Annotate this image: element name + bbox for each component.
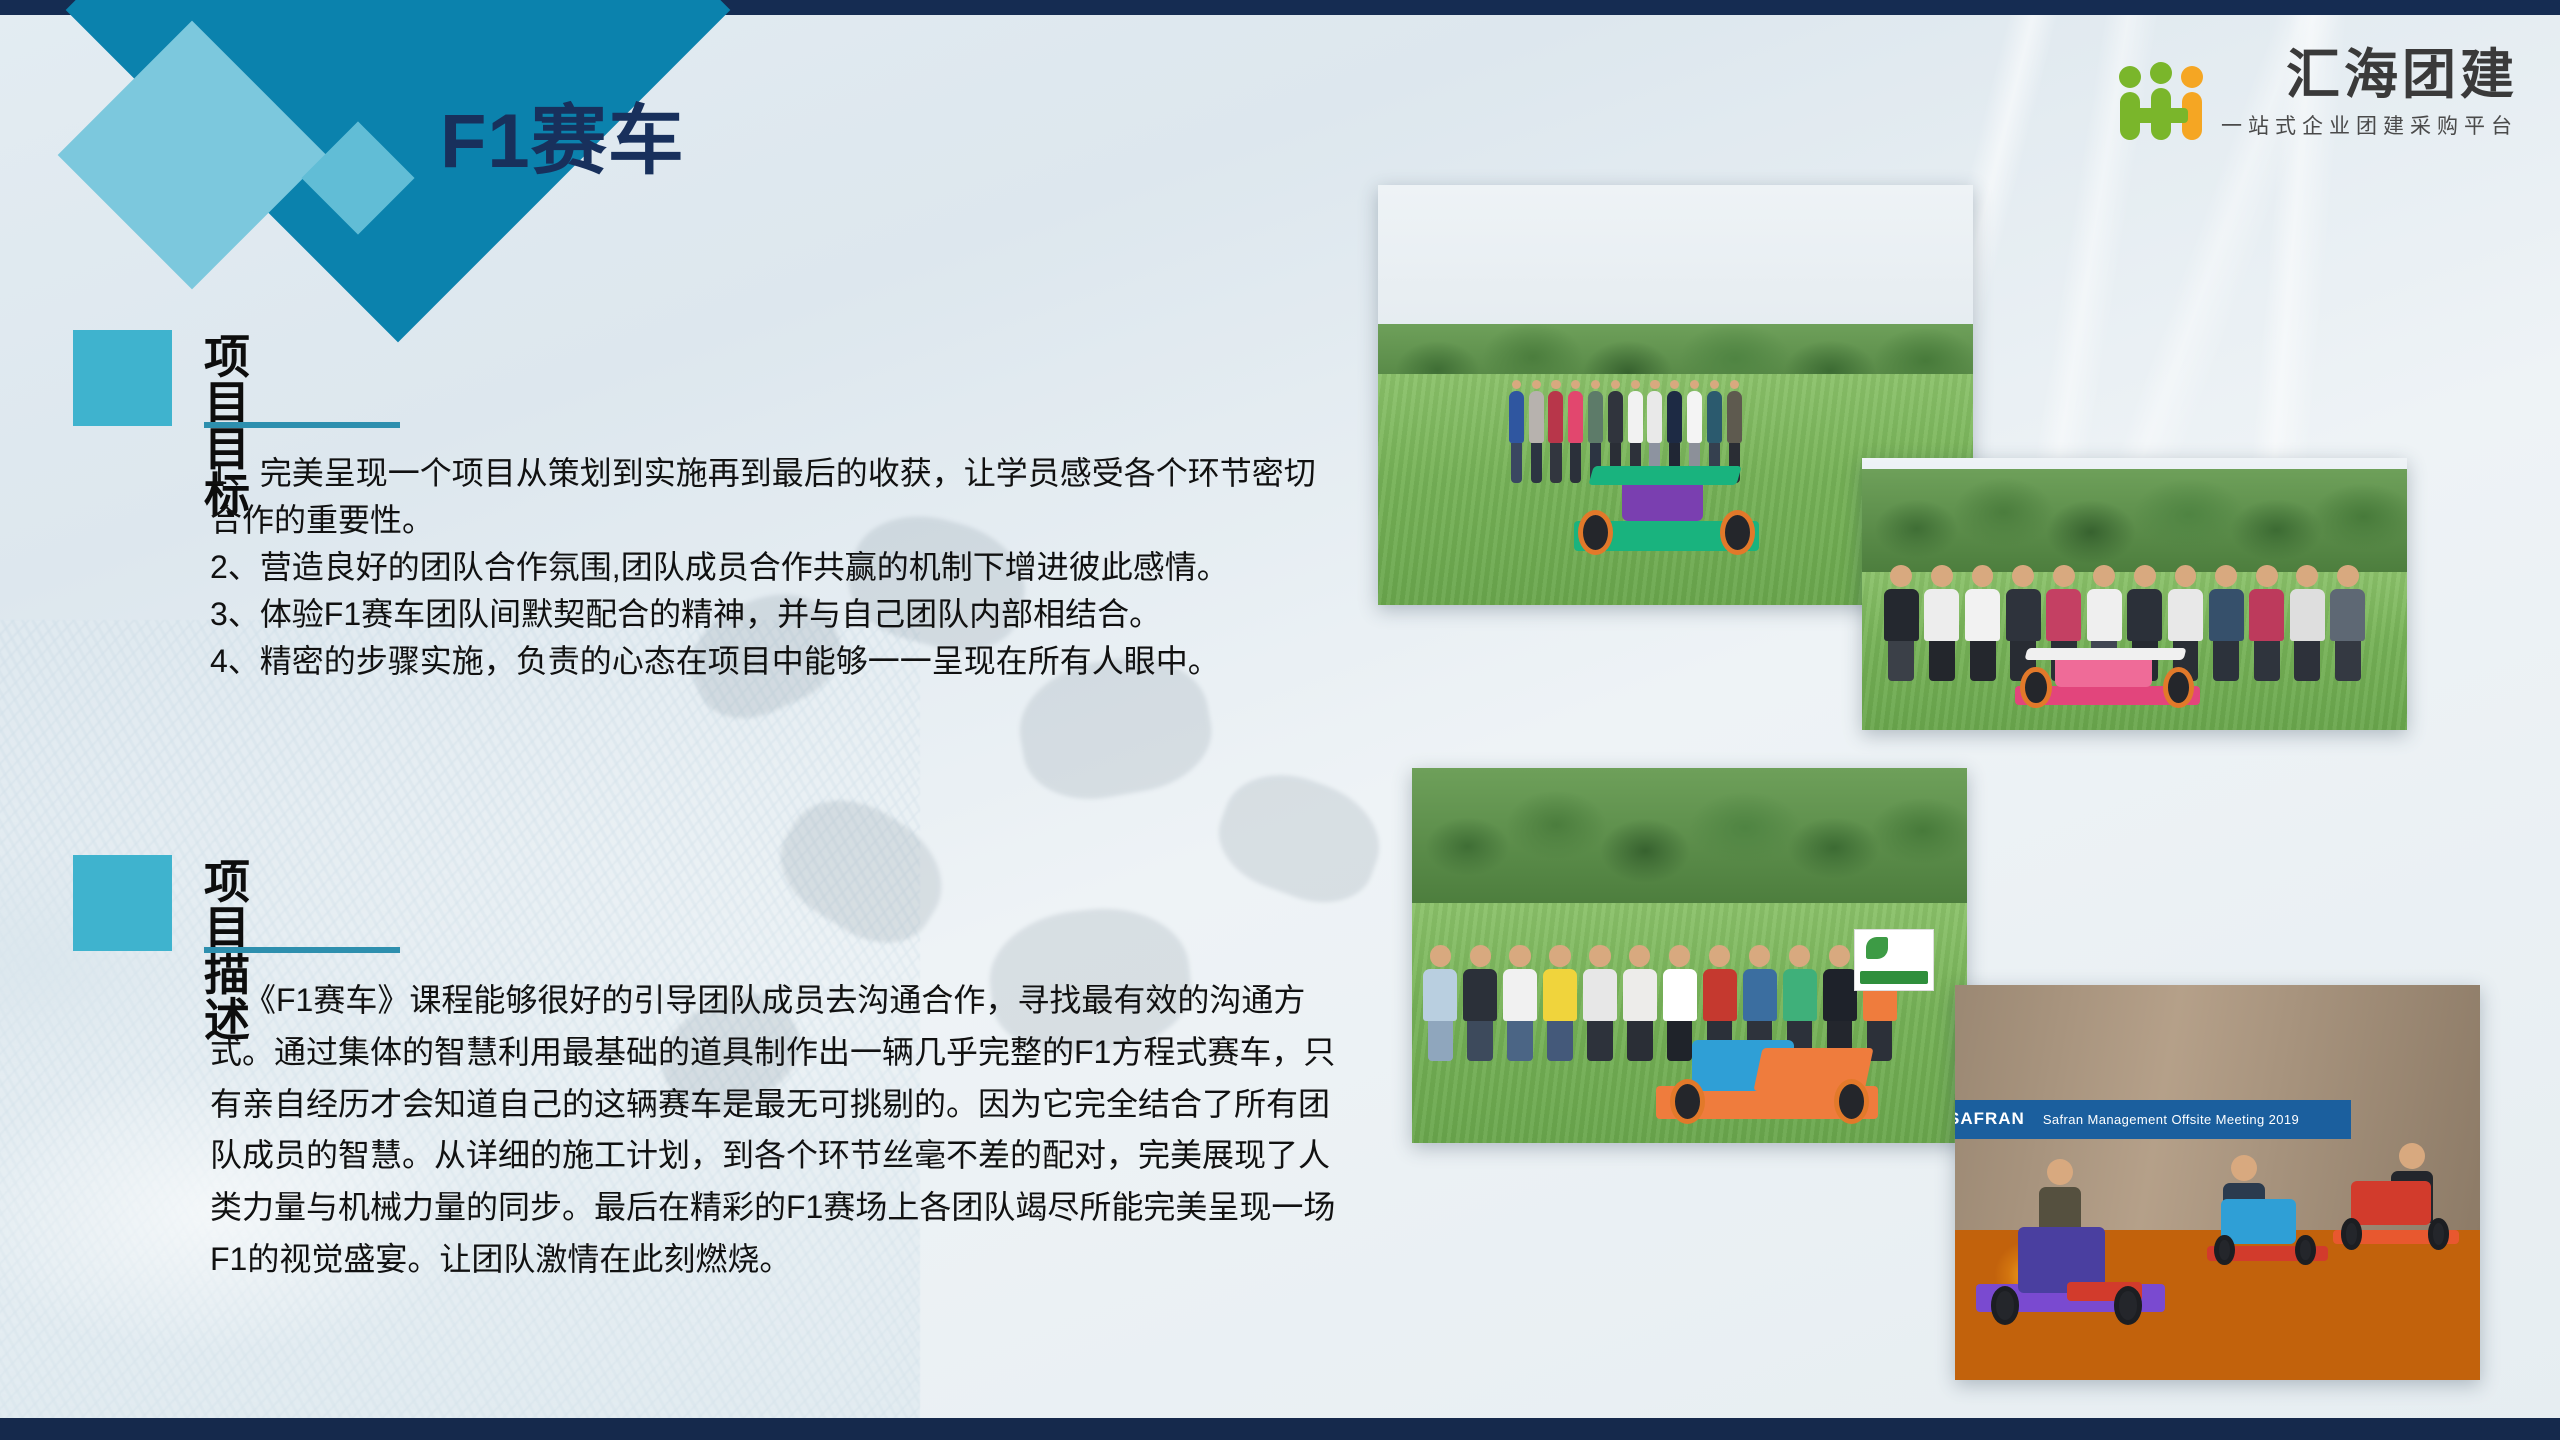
heading-underline: [204, 947, 400, 953]
banner-brand: SAFRAN: [1955, 1109, 2025, 1129]
teal-square-marker: [73, 330, 172, 426]
car-blue-plane: [2207, 1194, 2328, 1265]
brand-logo: 汇海团建 一站式企业团建采购平台: [2117, 48, 2518, 140]
page-title: F1赛车: [440, 104, 685, 180]
goal-line-4: 4、精密的步骤实施，负责的心态在项目中能够一一呈现在所有人眼中。: [210, 638, 1340, 685]
slide-root: F1赛车 汇海团建 一站式企业团建采购平台 项目目标 1、完美呈现一个项目从策划…: [0, 0, 2560, 1440]
heading-underline: [204, 422, 400, 428]
goal-line-2: 2、营造良好的团队合作氛围,团队成员合作共赢的机制下增进彼此感情。: [210, 544, 1340, 591]
safran-banner: SAFRAN Safran Management Offsite Meeting…: [1955, 1100, 2351, 1140]
hi-people-icon: [2117, 62, 2205, 140]
goal-line-1: 1、完美呈现一个项目从策划到实施再到最后的收获，让学员感受各个环节密切合作的重要…: [210, 450, 1340, 544]
goal-line-3: 3、体验F1赛车团队间默契配合的精神，并与自己团队内部相结合。: [210, 591, 1340, 638]
team-flag: [1854, 929, 1934, 991]
car-itoc: [1656, 1027, 1878, 1125]
bottom-navy-bar: [0, 1418, 2560, 1440]
photo-indoor-safran: SAFRAN Safran Management Offsite Meeting…: [1955, 985, 2480, 1380]
brand-tagline: 一站式企业团建采购平台: [2221, 110, 2518, 140]
brand-name: 汇海团建: [2286, 48, 2518, 102]
photo-group-pink-car: [1862, 458, 2407, 730]
description-paragraph: 《F1赛车》课程能够很好的引导团队成员去沟通合作，寻找最有效的沟通方式。通过集体…: [210, 975, 1340, 1286]
section-body-description: 《F1赛车》课程能够很好的引导团队成员去沟通合作，寻找最有效的沟通方式。通过集体…: [210, 975, 1340, 1286]
car-pink: [2015, 648, 2200, 708]
car-purple-plane: [1976, 1218, 2165, 1325]
car-red-plane: [2333, 1179, 2459, 1250]
banner-text: Safran Management Offsite Meeting 2019: [2043, 1112, 2299, 1127]
section-body-goals: 1、完美呈现一个项目从策划到实施再到最后的收获，让学员感受各个环节密切合作的重要…: [210, 450, 1340, 685]
photo-group-itoc-car: [1412, 768, 1967, 1143]
teal-square-marker: [73, 855, 172, 951]
car-green-purple: [1574, 466, 1758, 554]
